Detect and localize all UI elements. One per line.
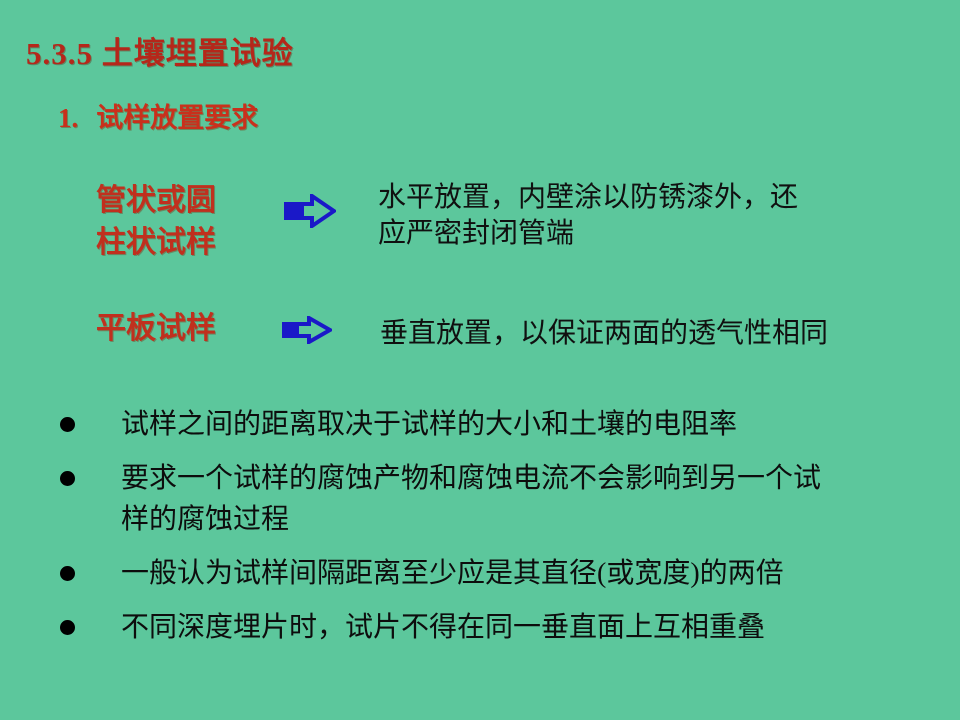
mapping-row-tubular: 管状或圆 柱状试样 水平放置，内壁涂以防锈漆外，还 应严密封闭管端 — [96, 180, 898, 264]
list-item: 要求一个试样的腐蚀产物和腐蚀电流不会影响到另一个试 样的腐蚀过程 — [60, 458, 920, 540]
bullet-dot-icon — [60, 566, 75, 581]
list-item: 不同深度埋片时，试片不得在同一垂直面上互相重叠 — [60, 607, 920, 648]
bullet-text: 一般认为试样间隔距离至少应是其直径(或宽度)的两倍 — [121, 553, 911, 594]
mapping-label-tubular: 管状或圆 柱状试样 — [96, 180, 256, 264]
section-label: 试样放置要求 — [96, 103, 258, 133]
mapping-description-flat-plate: 垂直放置，以保证两面的透气性相同 — [380, 316, 910, 352]
section-heading: 1.试样放置要求 — [58, 96, 258, 135]
bullet-dot-icon — [60, 417, 75, 432]
slide-title: 5.3.5 土壤埋置试验 — [26, 28, 294, 73]
bullet-list: 试样之间的距离取决于试样的大小和土壤的电阻率 要求一个试样的腐蚀产物和腐蚀电流不… — [60, 404, 920, 661]
section-number: 1. — [58, 103, 78, 133]
mapping-label-flat-plate: 平板试样 — [96, 308, 258, 350]
bullet-dot-icon — [60, 471, 75, 486]
mapping-description-tubular: 水平放置，内壁涂以防锈漆外，还 应严密封闭管端 — [378, 180, 898, 252]
bullet-dot-icon — [60, 620, 75, 635]
list-item: 试样之间的距离取决于试样的大小和土壤的电阻率 — [60, 404, 920, 445]
bullet-text: 要求一个试样的腐蚀产物和腐蚀电流不会影响到另一个试 样的腐蚀过程 — [121, 458, 911, 540]
mapping-row-flat-plate: 平板试样 垂直放置，以保证两面的透气性相同 — [96, 308, 910, 352]
slide-canvas: 5.3.5 土壤埋置试验 1.试样放置要求 管状或圆 柱状试样 水平放置，内壁涂… — [0, 0, 960, 720]
bullet-text: 不同深度埋片时，试片不得在同一垂直面上互相重叠 — [121, 607, 911, 648]
right-arrow-icon — [282, 316, 332, 344]
right-arrow-icon — [284, 194, 336, 228]
list-item: 一般认为试样间隔距离至少应是其直径(或宽度)的两倍 — [60, 553, 920, 594]
bullet-text: 试样之间的距离取决于试样的大小和土壤的电阻率 — [121, 404, 911, 445]
